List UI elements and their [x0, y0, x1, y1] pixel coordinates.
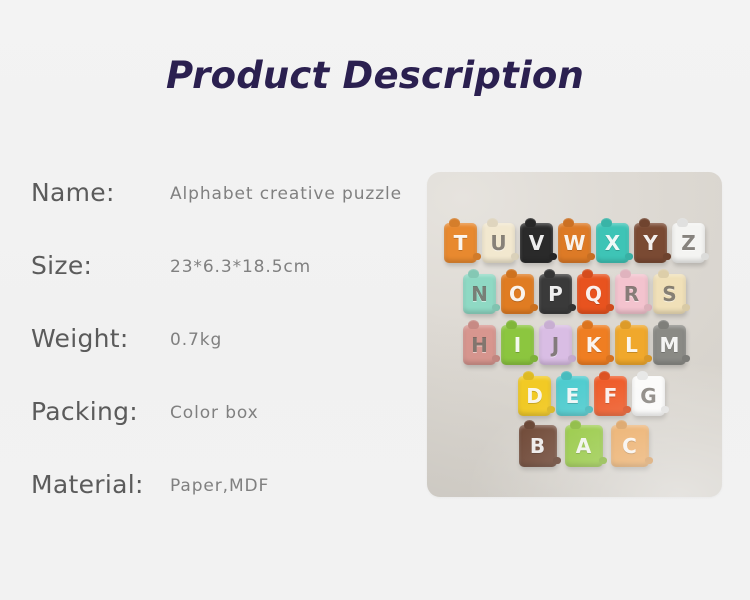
spec-label-material: Material: — [31, 470, 144, 499]
puzzle-piece-t: T — [444, 223, 477, 263]
specification-list: Name: Alphabet creative puzzle Size: 23*… — [31, 178, 421, 543]
puzzle-piece-i: I — [501, 325, 534, 365]
puzzle-piece-n: N — [463, 274, 496, 314]
puzzle-piece-e: E — [556, 376, 589, 416]
puzzle-piece-x: X — [596, 223, 629, 263]
spec-row-material: Material: Paper,MDF — [31, 470, 421, 543]
product-photo: TUVWXYZNOPQRSHIJKLMDEFGBAC — [427, 172, 722, 497]
puzzle-piece-s: S — [653, 274, 686, 314]
puzzle-piece-p: P — [539, 274, 572, 314]
puzzle-row: DEFG — [439, 371, 710, 416]
puzzle-piece-y: Y — [634, 223, 667, 263]
spec-label-name: Name: — [31, 178, 115, 207]
puzzle-piece-z: Z — [672, 223, 705, 263]
puzzle-row: BAC — [439, 422, 710, 467]
puzzle-piece-r: R — [615, 274, 648, 314]
puzzle-row: NOPQRS — [439, 269, 710, 314]
puzzle-row: HIJKLM — [439, 320, 710, 365]
puzzle-piece-o: O — [501, 274, 534, 314]
alphabet-puzzle-pieces: TUVWXYZNOPQRSHIJKLMDEFGBAC — [427, 172, 722, 497]
spec-value-packing: Color box — [170, 403, 259, 423]
spec-row-weight: Weight: 0.7kg — [31, 324, 421, 397]
puzzle-piece-q: Q — [577, 274, 610, 314]
product-description-page: Product Description Name: Alphabet creat… — [0, 0, 750, 600]
spec-label-packing: Packing: — [31, 397, 138, 426]
spec-label-size: Size: — [31, 251, 92, 280]
spec-value-weight: 0.7kg — [170, 330, 222, 350]
puzzle-piece-j: J — [539, 325, 572, 365]
puzzle-piece-c: C — [611, 425, 649, 467]
spec-value-size: 23*6.3*18.5cm — [170, 257, 311, 277]
puzzle-piece-a: A — [565, 425, 603, 467]
puzzle-piece-l: L — [615, 325, 648, 365]
spec-value-name: Alphabet creative puzzle — [170, 184, 402, 204]
page-title: Product Description — [0, 54, 750, 97]
puzzle-piece-k: K — [577, 325, 610, 365]
puzzle-piece-w: W — [558, 223, 591, 263]
spec-value-material: Paper,MDF — [170, 476, 269, 496]
spec-label-weight: Weight: — [31, 324, 129, 353]
spec-row-size: Size: 23*6.3*18.5cm — [31, 251, 421, 324]
puzzle-row: TUVWXYZ — [439, 218, 710, 263]
puzzle-piece-d: D — [518, 376, 551, 416]
puzzle-piece-u: U — [482, 223, 515, 263]
puzzle-piece-b: B — [519, 425, 557, 467]
spec-row-packing: Packing: Color box — [31, 397, 421, 470]
puzzle-piece-f: F — [594, 376, 627, 416]
spec-row-name: Name: Alphabet creative puzzle — [31, 178, 421, 251]
puzzle-piece-v: V — [520, 223, 553, 263]
puzzle-piece-h: H — [463, 325, 496, 365]
puzzle-piece-g: G — [632, 376, 665, 416]
puzzle-piece-m: M — [653, 325, 686, 365]
